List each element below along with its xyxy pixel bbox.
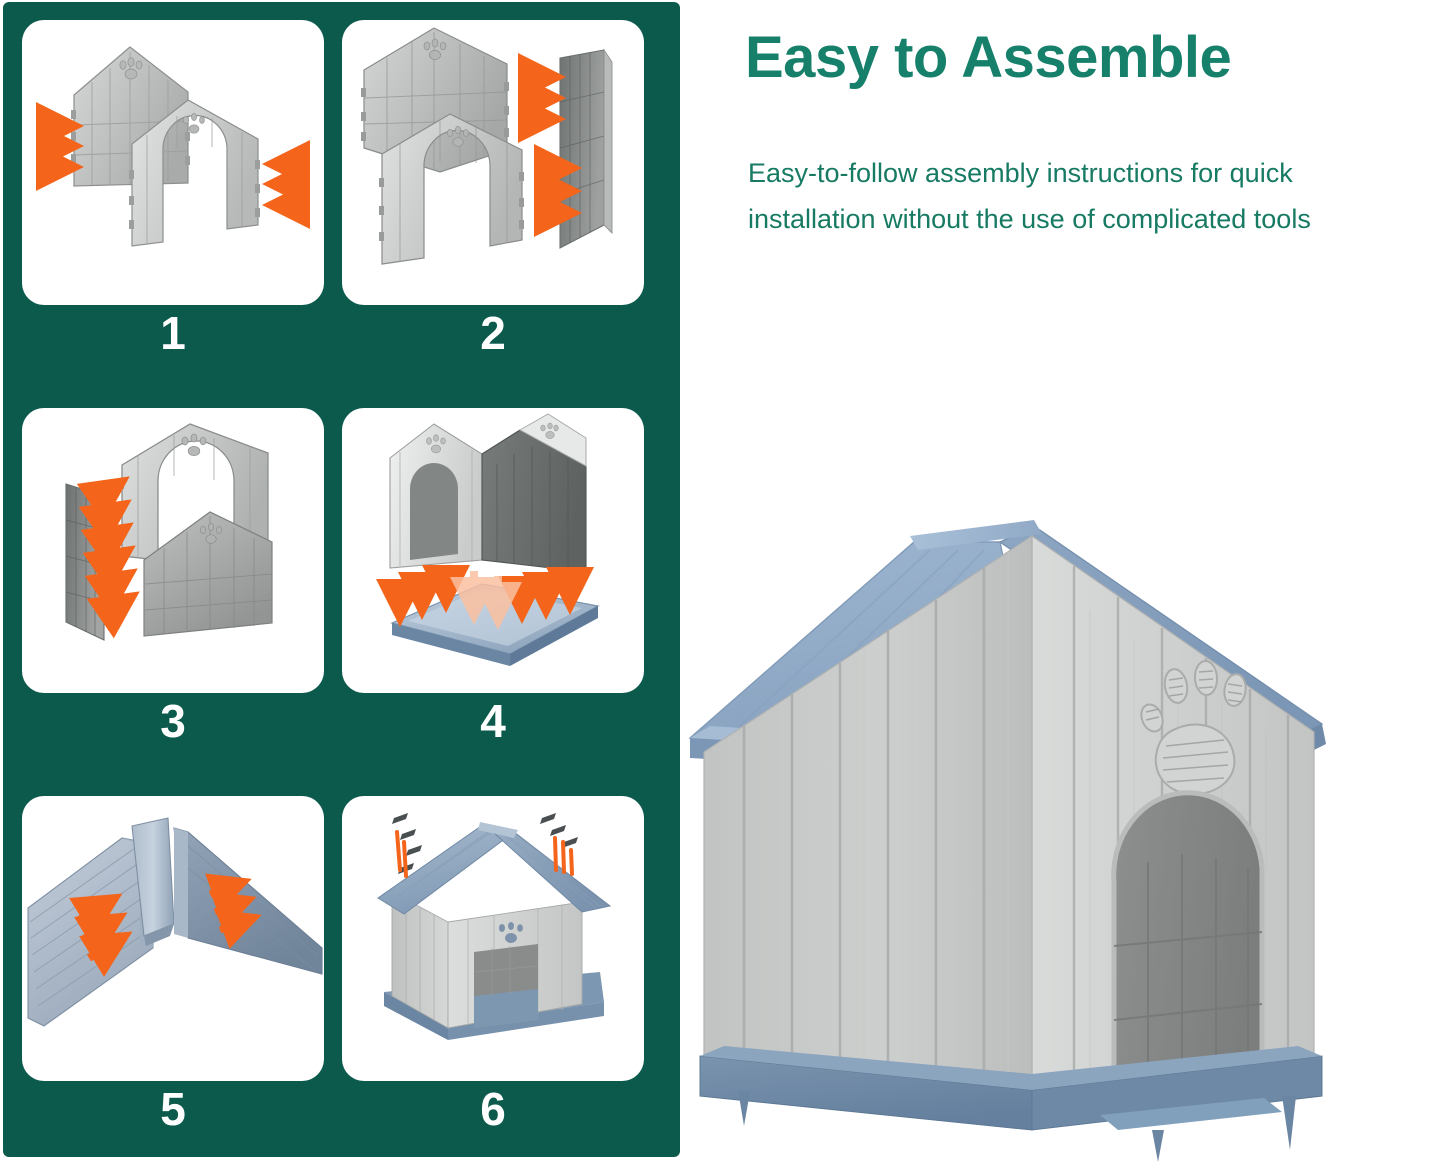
assembly-arrow	[538, 168, 558, 213]
hero-product-image	[682, 490, 1442, 1162]
step-card-2	[342, 20, 644, 305]
front-wall	[448, 902, 582, 1028]
infographic-root: 1	[0, 0, 1445, 1169]
step-5-illustration	[22, 796, 324, 1081]
page-title: Easy to Assemble	[745, 28, 1405, 89]
roof-panel	[484, 824, 610, 912]
assembly-arrow	[522, 77, 542, 119]
step-card-1	[22, 20, 324, 305]
step-number-3: 3	[22, 698, 324, 744]
step-2-illustration	[342, 20, 644, 305]
ground-stake	[1282, 1096, 1296, 1150]
step-3-illustration	[22, 408, 324, 693]
roof-panel-right	[174, 828, 322, 974]
step-card-5	[22, 796, 324, 1081]
step-number-4: 4	[342, 698, 644, 744]
screw-icon	[540, 813, 578, 848]
step-number-6: 6	[342, 1086, 644, 1132]
assembly-arrow	[42, 126, 60, 167]
step-4-illustration	[342, 408, 644, 693]
assembly-steps-board: 1	[3, 2, 680, 1157]
ground-stake	[1152, 1130, 1164, 1162]
ground-stake	[738, 1090, 750, 1126]
step-number-1: 1	[22, 310, 324, 356]
step-card-3	[22, 408, 324, 693]
step-6-illustration	[342, 796, 644, 1081]
side-wall-panel	[66, 484, 104, 640]
step-number-2: 2	[342, 310, 644, 356]
step-card-6	[342, 796, 644, 1081]
dog-house-render	[682, 490, 1442, 1162]
assembly-arrow	[286, 164, 304, 205]
step-number-5: 5	[22, 1086, 324, 1132]
arched-doorway	[1114, 793, 1262, 1094]
page-subtitle: Easy-to-follow assembly instructions for…	[748, 150, 1418, 243]
step-1-illustration	[22, 20, 324, 305]
paw-print-icon	[182, 434, 206, 456]
side-wall-panel	[560, 50, 612, 248]
front-wall-assembly	[390, 424, 482, 568]
step-card-4	[342, 408, 644, 693]
